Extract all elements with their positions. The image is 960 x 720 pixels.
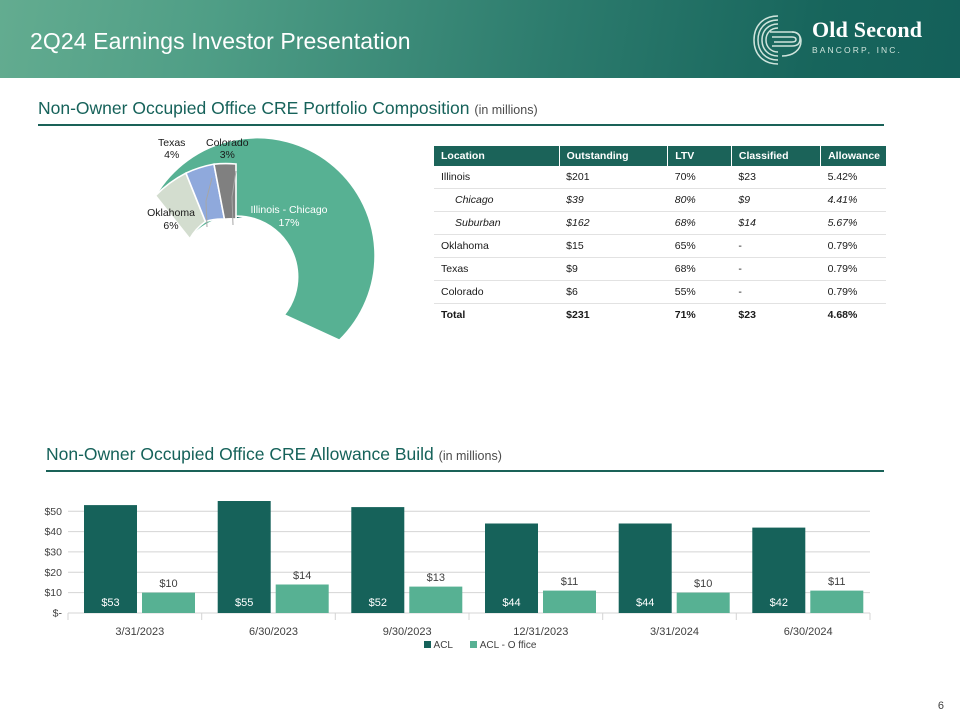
xtick-label: 3/31/2024 <box>650 626 699 638</box>
donut-chart: Texas 4% Colorado 3% Oklahoma 6% Illinoi… <box>20 135 420 420</box>
bar-chart-svg: $50 $40 $30 $20 $10 $- $53 $10 3/31/2023 <box>20 487 940 639</box>
bar-label-acl: $52 <box>369 597 387 609</box>
cell-classified: - <box>731 235 820 258</box>
cell-allowance: 4.68% <box>821 304 886 327</box>
legend-item-acl-office[interactable]: ACL - O ffice <box>470 640 537 651</box>
legend-swatch-acl-office-icon <box>470 641 477 648</box>
y-axis-tick-labels: $50 $40 $30 $20 $10 $- <box>44 506 62 620</box>
donut-label-illinois-suburban: Illinois - Suburban 70% <box>174 360 298 385</box>
section1-unit: (in millions) <box>474 103 537 117</box>
donut-label-illinois-chicago-pct: 17% <box>233 217 345 230</box>
logo-text: Old Second BANCORP, INC. <box>812 19 938 55</box>
bar-group: $44 $11 12/31/2023 <box>485 524 596 639</box>
table-col-ltv: LTV <box>668 146 732 166</box>
legend-label-acl: ACL <box>434 640 453 651</box>
cell-classified: - <box>731 281 820 304</box>
donut-label-illinois-suburban-pct: 70% <box>174 373 298 386</box>
cell-location: Oklahoma <box>434 235 559 258</box>
cell-location: Chicago <box>434 189 559 212</box>
table-col-classified: Classified <box>731 146 820 166</box>
ytick-label: $- <box>53 608 63 620</box>
allowance-build-bar-chart: $50 $40 $30 $20 $10 $- $53 $10 3/31/2023 <box>20 487 940 662</box>
donut-label-texas-pct: 4% <box>158 149 185 161</box>
cell-ltv: 71% <box>668 304 732 327</box>
donut-label-oklahoma-pct: 6% <box>132 220 210 233</box>
xtick-label: 6/30/2023 <box>249 626 298 638</box>
ytick-label: $20 <box>44 567 62 579</box>
xtick-label: 6/30/2024 <box>784 626 833 638</box>
cell-outstanding: $231 <box>559 304 668 327</box>
bar-label-acl-office: $14 <box>293 570 311 582</box>
table-row: Oklahoma $15 65% - 0.79% <box>434 235 886 258</box>
xtick-label: 12/31/2023 <box>513 626 568 638</box>
bar-acl-office[interactable] <box>409 587 462 613</box>
donut-label-illinois-suburban-name: Illinois - Suburban <box>174 360 298 373</box>
table-row: Chicago $39 80% $9 4.41% <box>434 189 886 212</box>
donut-label-colorado: Colorado 3% <box>206 137 249 161</box>
page-number: 6 <box>938 700 944 712</box>
ytick-label: $10 <box>44 587 62 599</box>
donut-label-texas: Texas 4% <box>158 137 185 161</box>
cell-classified: $9 <box>731 189 820 212</box>
cell-location: Suburban <box>434 212 559 235</box>
donut-label-oklahoma-name: Oklahoma <box>132 207 210 220</box>
cre-portfolio-table: Location Outstanding LTV Classified Allo… <box>434 146 886 326</box>
bar-label-acl: $44 <box>636 597 654 609</box>
section2-title-text: Non-Owner Occupied Office CRE Allowance … <box>46 444 434 464</box>
logo-subtitle: BANCORP, INC. <box>812 45 938 55</box>
ytick-label: $30 <box>44 547 62 559</box>
bar-acl-office[interactable] <box>543 591 596 613</box>
cell-outstanding: $6 <box>559 281 668 304</box>
ytick-label: $50 <box>44 506 62 518</box>
cell-location: Colorado <box>434 281 559 304</box>
header-band: 2Q24 Earnings Investor Presentation Old … <box>0 0 960 78</box>
bar-label-acl: $55 <box>235 597 253 609</box>
cell-ltv: 80% <box>668 189 732 212</box>
cell-classified: - <box>731 258 820 281</box>
cell-allowance: 0.79% <box>821 258 886 281</box>
legend-label-acl-office: ACL - O ffice <box>480 640 537 651</box>
old-second-knot-logo-icon <box>748 12 806 68</box>
bar-acl-office[interactable] <box>142 593 195 613</box>
logo-name: Old Second <box>812 19 938 41</box>
legend-item-acl[interactable]: ACL <box>424 640 453 651</box>
category-separators <box>68 613 870 620</box>
table-row: Suburban $162 68% $14 5.67% <box>434 212 886 235</box>
table-col-allowance: Allowance <box>821 146 886 166</box>
table-row: Colorado $6 55% - 0.79% <box>434 281 886 304</box>
bar-acl-office[interactable] <box>276 585 329 614</box>
bar-label-acl: $42 <box>770 597 788 609</box>
bar-label-acl-office: $10 <box>159 578 177 590</box>
table-col-outstanding: Outstanding <box>559 146 668 166</box>
cell-ltv: 65% <box>668 235 732 258</box>
table-col-location: Location <box>434 146 559 166</box>
brand-logo: Old Second BANCORP, INC. <box>748 10 938 70</box>
page-title: 2Q24 Earnings Investor Presentation <box>30 28 411 55</box>
section2-title: Non-Owner Occupied Office CRE Allowance … <box>46 444 884 465</box>
bar-label-acl-office: $13 <box>427 572 445 584</box>
table-row: Illinois $201 70% $23 5.42% <box>434 166 886 189</box>
cell-classified: $14 <box>731 212 820 235</box>
section1-rule <box>38 124 884 126</box>
donut-label-colorado-pct: 3% <box>206 149 249 161</box>
cell-classified: $23 <box>731 166 820 189</box>
cell-ltv: 68% <box>668 212 732 235</box>
section2-rule <box>46 470 884 472</box>
ytick-label: $40 <box>44 526 62 538</box>
bar-acl-office[interactable] <box>810 591 863 613</box>
cell-ltv: 55% <box>668 281 732 304</box>
bar-group: $55 $14 6/30/2023 <box>218 501 329 638</box>
bar-label-acl: $53 <box>101 597 119 609</box>
bar-label-acl: $44 <box>502 597 520 609</box>
bar-chart-legend: ACL ACL - O ffice <box>20 640 940 651</box>
cell-allowance: 0.79% <box>821 235 886 258</box>
bar-label-acl-office: $10 <box>694 578 712 590</box>
bar-label-acl-office: $11 <box>828 576 846 588</box>
cell-allowance: 5.67% <box>821 212 886 235</box>
bar-group: $42 $11 6/30/2024 <box>752 528 863 638</box>
cell-outstanding: $9 <box>559 258 668 281</box>
cell-allowance: 5.42% <box>821 166 886 189</box>
donut-label-illinois-chicago: Illinois - Chicago 17% <box>233 204 345 229</box>
cell-classified: $23 <box>731 304 820 327</box>
cell-outstanding: $39 <box>559 189 668 212</box>
cell-allowance: 0.79% <box>821 281 886 304</box>
section-portfolio-composition: Non-Owner Occupied Office CRE Portfolio … <box>38 98 884 126</box>
cell-outstanding: $162 <box>559 212 668 235</box>
bar-label-acl-office: $11 <box>561 576 579 588</box>
donut-label-illinois-chicago-name: Illinois - Chicago <box>233 204 345 217</box>
xtick-label: 9/30/2023 <box>383 626 432 638</box>
donut-slice-illinois-suburban[interactable] <box>155 138 375 341</box>
bar-group: $53 $10 3/31/2023 <box>84 505 195 638</box>
xtick-label: 3/31/2023 <box>115 626 164 638</box>
cell-outstanding: $201 <box>559 166 668 189</box>
donut-label-oklahoma: Oklahoma 6% <box>132 207 210 232</box>
cell-allowance: 4.41% <box>821 189 886 212</box>
cell-location: Texas <box>434 258 559 281</box>
section-allowance-build: Non-Owner Occupied Office CRE Allowance … <box>46 444 884 472</box>
bar-group: $44 $10 3/31/2024 <box>619 524 730 639</box>
table-row-total: Total $231 71% $23 4.68% <box>434 304 886 327</box>
cell-ltv: 68% <box>668 258 732 281</box>
donut-label-colorado-name: Colorado <box>206 137 249 149</box>
legend-swatch-acl-icon <box>424 641 431 648</box>
cell-location: Illinois <box>434 166 559 189</box>
section1-title: Non-Owner Occupied Office CRE Portfolio … <box>38 98 884 119</box>
table-row: Texas $9 68% - 0.79% <box>434 258 886 281</box>
donut-label-texas-name: Texas <box>158 137 185 149</box>
bar-acl-office[interactable] <box>677 593 730 613</box>
section1-title-text: Non-Owner Occupied Office CRE Portfolio … <box>38 98 470 118</box>
section2-unit: (in millions) <box>439 449 502 463</box>
cell-location: Total <box>434 304 559 327</box>
cell-ltv: 70% <box>668 166 732 189</box>
table-header-row: Location Outstanding LTV Classified Allo… <box>434 146 886 166</box>
cell-outstanding: $15 <box>559 235 668 258</box>
